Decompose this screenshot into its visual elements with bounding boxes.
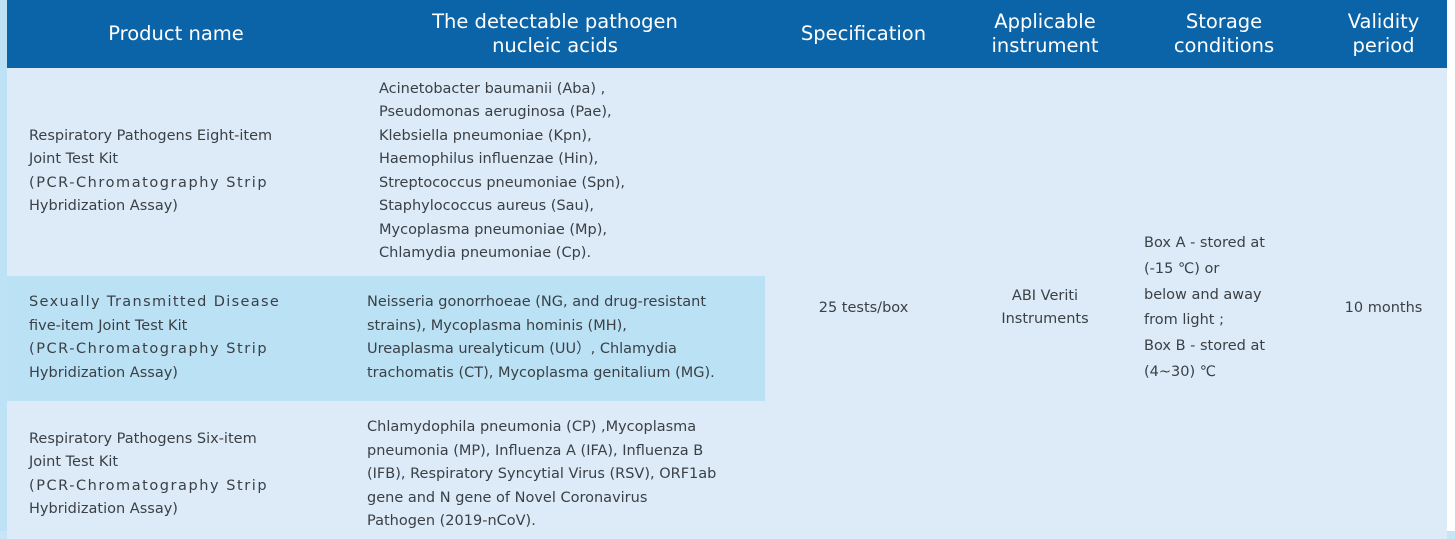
product-name-line4: Hybridization Assay) bbox=[29, 195, 337, 218]
specification-value: 25 tests/box bbox=[819, 300, 909, 316]
storage-line4: from light ; bbox=[1144, 308, 1302, 334]
right-margin bbox=[1447, 0, 1455, 539]
table-row: Respiratory Pathogens Eight-item Joint T… bbox=[7, 68, 1447, 276]
page-root: Product name The detectable pathogen nuc… bbox=[0, 0, 1455, 539]
cell-storage-conditions-merged: Box A - stored at (-15 ℃) or below and a… bbox=[1128, 68, 1320, 539]
column-header-specification: Specification bbox=[765, 0, 962, 68]
pathogen-item: Mycoplasma pneumoniae (Mp), bbox=[379, 219, 755, 242]
pathogen-item: Haemophilus influenzae (Hin), bbox=[379, 148, 755, 171]
pathogen-item: Acinetobacter baumanii (Aba) , bbox=[379, 78, 755, 101]
product-name-line1: Respiratory Pathogens Six-item bbox=[29, 428, 337, 451]
pathogen-item: Klebsiella pneumoniae (Kpn), bbox=[379, 125, 755, 148]
cell-pathogen-list: Neisseria gonorrhoeae (NG, and drug-resi… bbox=[345, 276, 765, 401]
cell-pathogen-list: Acinetobacter baumanii (Aba) , Pseudomon… bbox=[345, 68, 765, 276]
header-label-storage-line1: Storage bbox=[1138, 10, 1310, 34]
product-specification-table: Product name The detectable pathogen nuc… bbox=[7, 0, 1447, 539]
storage-line3: below and away bbox=[1144, 283, 1302, 309]
header-label-validity-line2: period bbox=[1330, 34, 1437, 58]
storage-line6: (4~30) ℃ bbox=[1144, 360, 1302, 386]
pathogen-item: (IFB), Respiratory Syncytial Virus (RSV)… bbox=[367, 463, 755, 486]
header-label-pathogen-line2: nucleic acids bbox=[355, 34, 755, 58]
pathogen-item: Staphylococcus aureus (Sau), bbox=[379, 195, 755, 218]
pathogen-item: Chlamydophila pneumonia (CP) ,Mycoplasma bbox=[367, 416, 755, 439]
cell-product-name: Respiratory Pathogens Six-item Joint Tes… bbox=[7, 401, 345, 539]
cell-product-name: Sexually Transmitted Disease five-item J… bbox=[7, 276, 345, 401]
pathogen-item: trachomatis (CT), Mycoplasma genitalium … bbox=[367, 362, 755, 385]
left-accent-strip bbox=[0, 0, 7, 539]
header-label-product-name: Product name bbox=[108, 22, 244, 45]
product-name-line4: Hybridization Assay) bbox=[29, 362, 337, 385]
product-name-line4: Hybridization Assay) bbox=[29, 498, 337, 521]
header-label-instrument-line1: Applicable bbox=[972, 10, 1118, 34]
cell-validity-period-merged: 10 months bbox=[1320, 68, 1447, 539]
header-label-pathogen-line1: The detectable pathogen bbox=[355, 10, 755, 34]
storage-line2: (-15 ℃) or bbox=[1144, 257, 1302, 283]
product-name-line2: Joint Test Kit bbox=[29, 148, 337, 171]
column-header-storage-conditions: Storage conditions bbox=[1128, 0, 1320, 68]
pathogen-item: gene and N gene of Novel Coronavirus bbox=[367, 487, 755, 510]
product-name-line1: Respiratory Pathogens Eight-item bbox=[29, 125, 337, 148]
product-name-line3: (PCR-Chromatography Strip bbox=[29, 172, 337, 195]
header-label-specification: Specification bbox=[801, 22, 926, 45]
product-name-line2: Joint Test Kit bbox=[29, 451, 337, 474]
storage-line5: Box B - stored at bbox=[1144, 334, 1302, 360]
pathogen-item: pneumonia (MP), Influenza A (IFA), Influ… bbox=[367, 440, 755, 463]
column-header-pathogen-nucleic-acids: The detectable pathogen nucleic acids bbox=[345, 0, 765, 68]
product-name-line2: five-item Joint Test Kit bbox=[29, 315, 337, 338]
product-name-line3: (PCR-Chromatography Strip bbox=[29, 475, 337, 498]
column-header-validity-period: Validity period bbox=[1320, 0, 1447, 68]
pathogen-item: strains), Mycoplasma hominis (MH), bbox=[367, 315, 755, 338]
header-label-storage-line2: conditions bbox=[1138, 34, 1310, 58]
table-header: Product name The detectable pathogen nuc… bbox=[7, 0, 1447, 68]
pathogen-item: Ureaplasma urealyticum (UU）, Chlamydia bbox=[367, 338, 755, 361]
instrument-value-line1: ABI Veriti bbox=[980, 285, 1110, 308]
product-name-line3: (PCR-Chromatography Strip bbox=[29, 338, 337, 361]
header-label-instrument-line2: instrument bbox=[972, 34, 1118, 58]
pathogen-item: Pathogen (2019-nCoV). bbox=[367, 510, 755, 533]
pathogen-item: Neisseria gonorrhoeae (NG, and drug-resi… bbox=[367, 291, 755, 314]
header-row: Product name The detectable pathogen nuc… bbox=[7, 0, 1447, 68]
validity-period-value: 10 months bbox=[1345, 300, 1423, 316]
cell-applicable-instrument-merged: ABI Veriti Instruments bbox=[962, 68, 1128, 539]
column-header-applicable-instrument: Applicable instrument bbox=[962, 0, 1128, 68]
cell-specification-merged: 25 tests/box bbox=[765, 68, 962, 539]
instrument-value-line2: Instruments bbox=[980, 308, 1110, 331]
pathogen-item: Chlamydia pneumoniae (Cp). bbox=[379, 242, 755, 265]
cell-product-name: Respiratory Pathogens Eight-item Joint T… bbox=[7, 68, 345, 276]
column-header-product-name: Product name bbox=[7, 0, 345, 68]
header-label-validity-line1: Validity bbox=[1330, 10, 1437, 34]
storage-line1: Box A - stored at bbox=[1144, 231, 1302, 257]
product-name-line1: Sexually Transmitted Disease bbox=[29, 291, 337, 314]
table-body: Respiratory Pathogens Eight-item Joint T… bbox=[7, 68, 1447, 539]
pathogen-item: Streptococcus pneumoniae (Spn), bbox=[379, 172, 755, 195]
pathogen-item: Pseudomonas aeruginosa (Pae), bbox=[379, 101, 755, 124]
cell-pathogen-list: Chlamydophila pneumonia (CP) ,Mycoplasma… bbox=[345, 401, 765, 539]
